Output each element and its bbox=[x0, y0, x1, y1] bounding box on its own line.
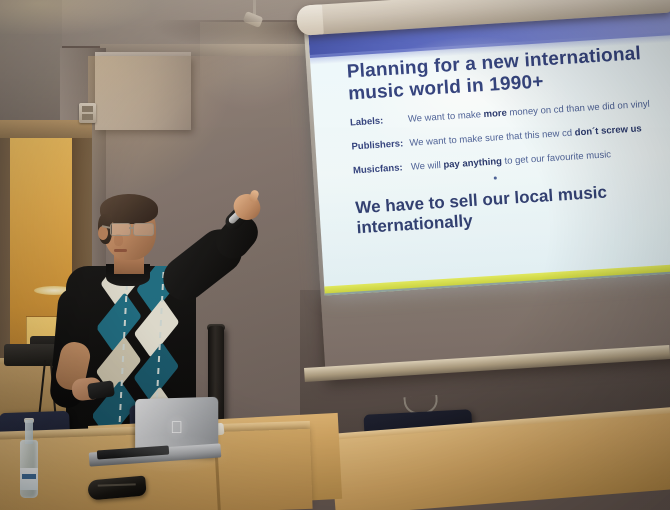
row-post: to get our favourite music bbox=[502, 149, 612, 167]
row-pre: We will bbox=[411, 160, 444, 173]
row-bold: more bbox=[483, 108, 507, 120]
laptop-highlight bbox=[113, 434, 233, 474]
apple-logo-glyph:  bbox=[170, 418, 183, 435]
macbook-laptop[interactable]:  bbox=[133, 398, 217, 460]
slide-bullet-dot bbox=[494, 176, 497, 179]
light-switch-plate[interactable] bbox=[79, 103, 96, 123]
slide-row-label: Labels: bbox=[350, 114, 409, 129]
doorway-frame-top bbox=[0, 120, 92, 138]
photo-scene: Planning for a new international music w… bbox=[0, 0, 670, 510]
slide-row-text: We will pay anything to get our favourit… bbox=[411, 145, 670, 173]
slide-row-text: We want to make sure that this new cd do… bbox=[409, 121, 670, 149]
row-bold: pay anything bbox=[443, 156, 502, 171]
ceiling-light-pool bbox=[0, 0, 150, 34]
bottle-label bbox=[20, 468, 38, 490]
slide-conclusion: We have to sell our local music internat… bbox=[355, 179, 670, 240]
presenter-ear bbox=[98, 226, 108, 240]
slide-row-label: Musicfans: bbox=[353, 162, 412, 177]
projected-slide: Planning for a new international music w… bbox=[308, 5, 670, 295]
presenter-mouth bbox=[114, 249, 127, 252]
eyeglasses-icon bbox=[108, 223, 156, 235]
row-bold: don´t screw us bbox=[574, 123, 642, 138]
row-pre: We want to make sure that this new cd bbox=[409, 127, 575, 148]
slide-row-label: Publishers: bbox=[351, 138, 410, 153]
slide-row: Musicfans: We will pay anything to get o… bbox=[353, 145, 670, 176]
pouch-zipper bbox=[98, 483, 136, 486]
water-bottle bbox=[20, 418, 38, 498]
